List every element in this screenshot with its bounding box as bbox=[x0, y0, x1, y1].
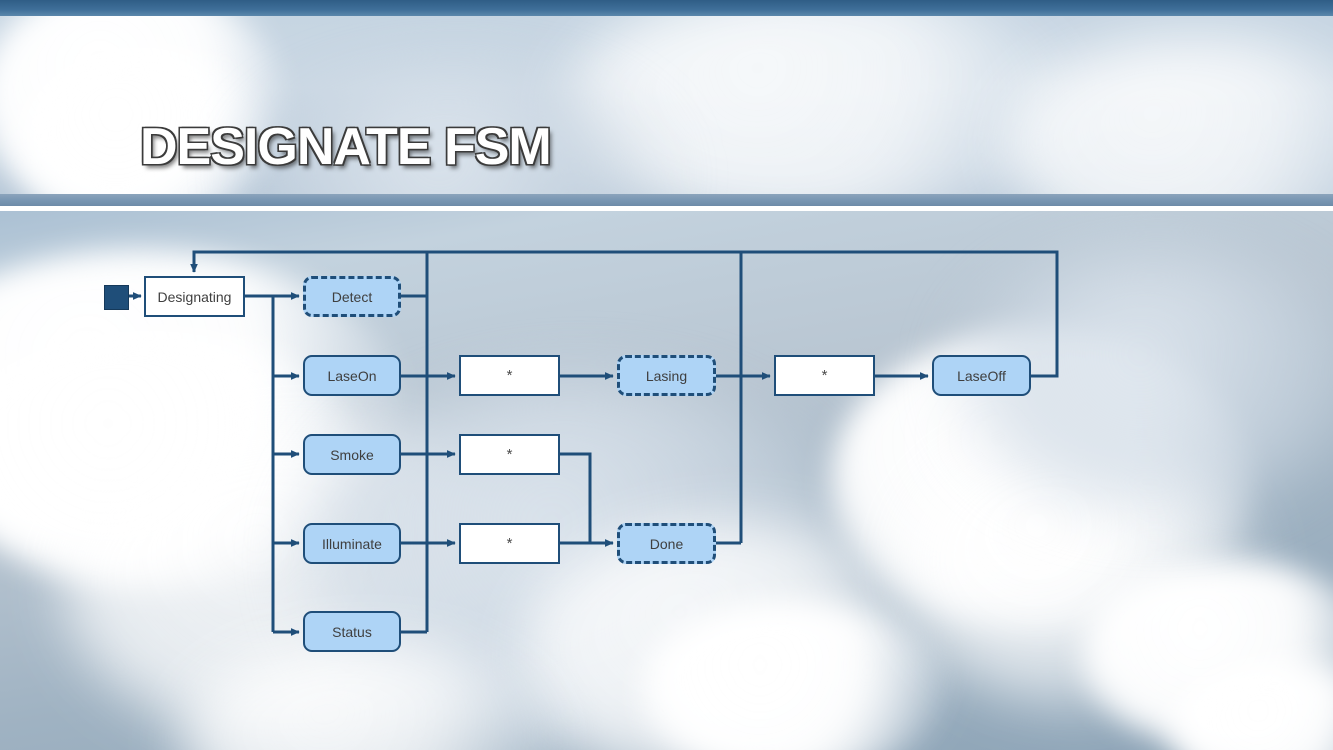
fsm-node-label: Smoke bbox=[330, 447, 374, 463]
header-top-accent-bar bbox=[0, 0, 1333, 16]
page-title: DESIGNATE FSM bbox=[140, 117, 551, 177]
fsm-node-status[interactable]: Status bbox=[303, 611, 401, 652]
fsm-node-laseon[interactable]: LaseOn bbox=[303, 355, 401, 396]
header-bottom-accent-bar bbox=[0, 194, 1333, 206]
fsm-node-label: Lasing bbox=[646, 368, 687, 384]
fsm-node-laseoff[interactable]: LaseOff bbox=[932, 355, 1031, 396]
fsm-node-label: * bbox=[507, 367, 513, 384]
fsm-node-designating[interactable]: Designating bbox=[144, 276, 245, 317]
fsm-node-done[interactable]: Done bbox=[617, 523, 716, 564]
fsm-node-label: * bbox=[507, 535, 513, 552]
fsm-node-label: Designating bbox=[158, 289, 232, 305]
fsm-node-lasing[interactable]: Lasing bbox=[617, 355, 716, 396]
fsm-node-label: LaseOn bbox=[327, 368, 376, 384]
header-separator bbox=[0, 206, 1333, 211]
fsm-node-illuminate[interactable]: Illuminate bbox=[303, 523, 401, 564]
fsm-node-label: * bbox=[822, 367, 828, 384]
fsm-node-star3[interactable]: * bbox=[459, 434, 560, 475]
start-state-marker bbox=[104, 285, 129, 310]
fsm-node-smoke[interactable]: Smoke bbox=[303, 434, 401, 475]
fsm-node-label: LaseOff bbox=[957, 368, 1006, 384]
fsm-node-star1[interactable]: * bbox=[459, 355, 560, 396]
fsm-node-star4[interactable]: * bbox=[459, 523, 560, 564]
slide-canvas: DESIGNATE FSM bbox=[0, 0, 1333, 750]
fsm-node-label: Detect bbox=[332, 289, 372, 305]
fsm-node-label: Illuminate bbox=[322, 536, 382, 552]
fsm-node-label: * bbox=[507, 446, 513, 463]
fsm-node-label: Done bbox=[650, 536, 683, 552]
fsm-node-detect[interactable]: Detect bbox=[303, 276, 401, 317]
fsm-node-star2[interactable]: * bbox=[774, 355, 875, 396]
fsm-node-label: Status bbox=[332, 624, 372, 640]
